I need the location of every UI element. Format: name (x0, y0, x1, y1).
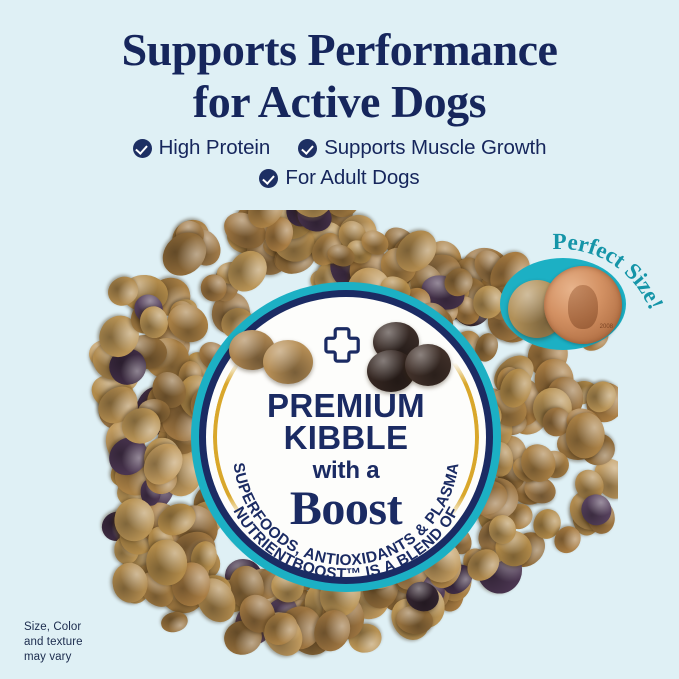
bullet-label: Supports Muscle Growth (324, 136, 546, 160)
bullet-label: For Adult Dogs (285, 166, 419, 190)
premium-kibble-seal: PREMIUM KIBBLE with a Boost NUTRIENTBOOS… (191, 282, 501, 592)
disclaimer-line-1: Size, Color (24, 620, 83, 635)
perfect-size-text: Perfect Size! (553, 229, 669, 313)
seal-curved-text: NUTRIENTBOOST™ IS A BLEND OF SUPERFOODS,… (191, 282, 501, 592)
bullet-supports-muscle-growth: Supports Muscle Growth (298, 136, 546, 160)
check-circle-icon (133, 139, 152, 158)
bullet-high-protein: High Protein (133, 136, 271, 160)
disclaimer-line-2: and texture (24, 635, 83, 650)
headline-line-1: Supports Performance (0, 24, 679, 76)
product-infographic: Supports Performance for Active Dogs Hig… (0, 0, 679, 679)
perfect-size-label: Perfect Size! (486, 204, 679, 354)
check-circle-icon (259, 169, 278, 188)
feature-bullets: High Protein Supports Muscle Growth For … (0, 136, 679, 196)
disclaimer-text: Size, Color and texture may vary (24, 620, 83, 665)
headline-line-2: for Active Dogs (0, 76, 679, 128)
bullet-label: High Protein (159, 136, 271, 160)
check-circle-icon (298, 139, 317, 158)
perfect-size-badge: 2008 Perfect Size! (486, 204, 679, 354)
bullet-row-2: For Adult Dogs (0, 166, 679, 190)
bullet-row-1: High Protein Supports Muscle Growth (0, 136, 679, 160)
page-title: Supports Performance for Active Dogs (0, 24, 679, 128)
bullet-for-adult-dogs: For Adult Dogs (259, 166, 419, 190)
disclaimer-line-3: may vary (24, 650, 83, 665)
